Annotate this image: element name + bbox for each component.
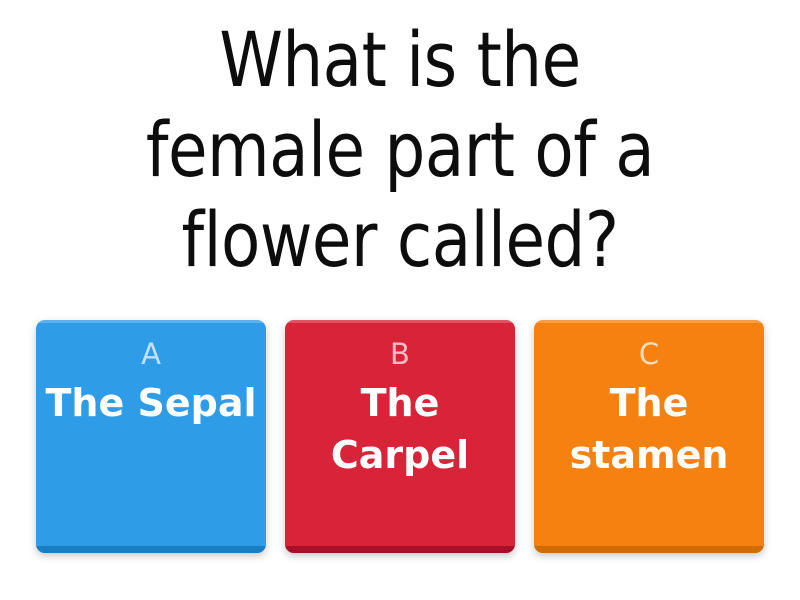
answer-text-b: The Carpel — [285, 377, 515, 481]
question-area: What is the female part of a flower call… — [0, 0, 800, 305]
answer-option-a[interactable]: A The Sepal — [36, 320, 266, 553]
answer-letter-a: A — [141, 338, 161, 371]
answer-letter-c: C — [639, 338, 659, 371]
quiz-stage: What is the female part of a flower call… — [0, 0, 800, 600]
answer-option-b[interactable]: B The Carpel — [285, 320, 515, 553]
answer-letter-b: B — [390, 338, 410, 371]
answer-options-row: A The Sepal B The Carpel C The stamen — [0, 305, 800, 600]
answer-text-c: The stamen — [534, 377, 764, 481]
answer-text-a: The Sepal — [38, 377, 265, 429]
answer-option-c[interactable]: C The stamen — [534, 320, 764, 553]
question-text: What is the female part of a flower call… — [109, 15, 692, 285]
